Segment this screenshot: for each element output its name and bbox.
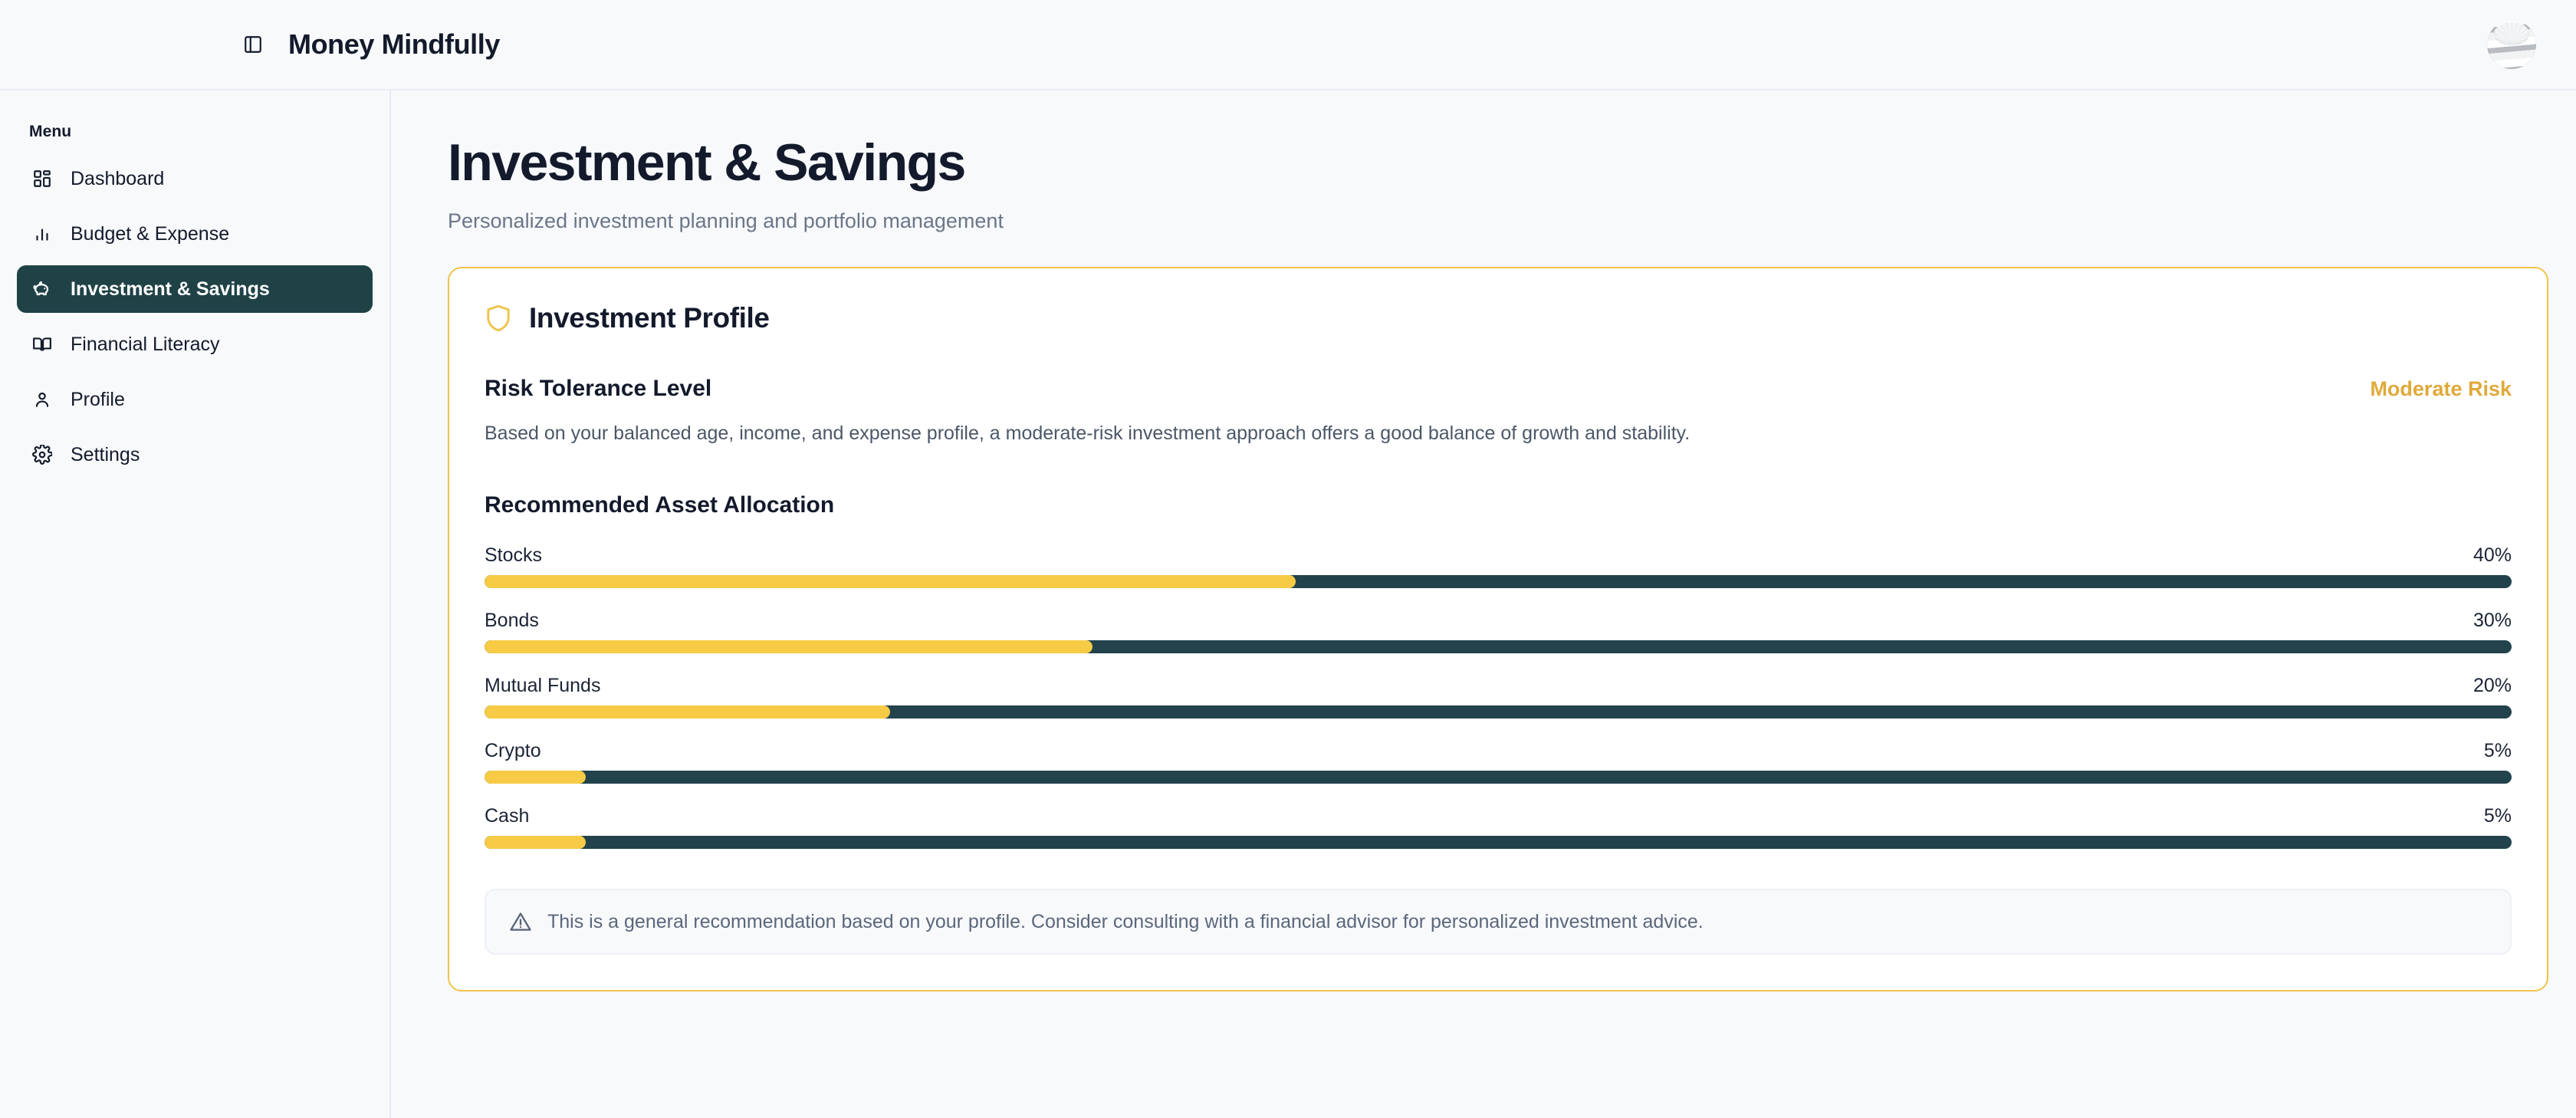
book-open-icon	[31, 333, 54, 356]
allocation-progress-fill	[485, 771, 586, 784]
body-split: Menu Dashboard	[0, 90, 2576, 1118]
page-title: Investment & Savings	[448, 136, 2522, 189]
sidebar-item-label: Budget & Expense	[71, 223, 229, 245]
app-title: Money Mindfully	[288, 28, 500, 61]
allocation-row-header: Bonds 30%	[485, 610, 2512, 632]
allocation-percent: 5%	[2484, 740, 2512, 762]
allocation-row: Stocks 40%	[485, 544, 2512, 588]
top-bar-left: Money Mindfully	[0, 28, 500, 61]
card-header: Investment Profile	[485, 302, 2512, 334]
shield-icon	[485, 304, 512, 333]
disclaimer-note: This is a general recommendation based o…	[485, 889, 2512, 955]
risk-tolerance-row: Risk Tolerance Level Moderate Risk	[485, 376, 2512, 402]
allocation-row: Cash 5%	[485, 805, 2512, 849]
app-root: Money Mindfully Menu	[0, 0, 2576, 1118]
allocation-percent: 20%	[2473, 675, 2512, 697]
sidebar-item-label: Dashboard	[71, 168, 164, 190]
allocation-name: Stocks	[485, 544, 542, 567]
allocation-progress-track	[485, 575, 2512, 588]
allocation-name: Crypto	[485, 740, 541, 762]
allocation-progress-fill	[485, 836, 586, 849]
sidebar-item-label: Profile	[71, 389, 125, 411]
allocation-name: Bonds	[485, 610, 539, 632]
gear-icon	[31, 443, 54, 466]
allocation-progress-track	[485, 640, 2512, 653]
allocation-row-header: Cash 5%	[485, 805, 2512, 827]
allocation-name: Cash	[485, 805, 529, 827]
allocation-progress-track	[485, 836, 2512, 849]
page-subtitle: Personalized investment planning and por…	[448, 209, 2522, 233]
allocation-progress-fill	[485, 575, 1296, 588]
bar-chart-icon	[31, 222, 54, 245]
allocation-row-header: Stocks 40%	[485, 544, 2512, 567]
allocation-row: Mutual Funds 20%	[485, 675, 2512, 718]
risk-tolerance-description: Based on your balanced age, income, and …	[485, 423, 2512, 445]
grid-icon	[31, 167, 54, 190]
allocation-percent: 5%	[2484, 805, 2512, 827]
sidebar-item-settings[interactable]: Settings	[17, 431, 373, 478]
sidebar: Menu Dashboard	[0, 90, 391, 1118]
allocation-row: Crypto 5%	[485, 740, 2512, 784]
allocation-progress-fill	[485, 705, 890, 718]
sidebar-item-label: Financial Literacy	[71, 334, 220, 356]
allocation-percent: 30%	[2473, 610, 2512, 632]
panel-toggle-icon[interactable]	[238, 29, 268, 60]
card-title: Investment Profile	[529, 302, 770, 334]
risk-tolerance-label: Risk Tolerance Level	[485, 376, 711, 402]
allocation-row: Bonds 30%	[485, 610, 2512, 653]
asset-allocation-list: Stocks 40% Bonds 30%	[485, 544, 2512, 849]
top-bar-right	[2487, 20, 2536, 69]
sidebar-item-financial-literacy[interactable]: Financial Literacy	[17, 321, 373, 368]
sidebar-nav-list: Dashboard Budget & Expense	[17, 155, 373, 478]
user-icon	[31, 388, 54, 411]
piggy-bank-icon	[31, 278, 54, 301]
allocation-row-header: Crypto 5%	[485, 740, 2512, 762]
allocation-name: Mutual Funds	[485, 675, 600, 697]
allocation-progress-track	[485, 705, 2512, 718]
allocation-progress-fill	[485, 640, 1092, 653]
disclaimer-text: This is a general recommendation based o…	[547, 911, 1704, 933]
top-bar: Money Mindfully	[0, 0, 2576, 90]
warning-triangle-icon	[509, 910, 532, 933]
main-content: Investment & Savings Personalized invest…	[391, 90, 2576, 1118]
allocation-row-header: Mutual Funds 20%	[485, 675, 2512, 697]
asset-allocation-title: Recommended Asset Allocation	[485, 492, 2512, 518]
sidebar-item-budget-expense[interactable]: Budget & Expense	[17, 210, 373, 258]
sidebar-item-investment-savings[interactable]: Investment & Savings	[17, 265, 373, 313]
allocation-percent: 40%	[2473, 544, 2512, 567]
sidebar-section-label: Menu	[17, 112, 373, 155]
sidebar-item-label: Settings	[71, 444, 140, 466]
allocation-progress-track	[485, 771, 2512, 784]
sidebar-item-label: Investment & Savings	[71, 278, 270, 301]
sidebar-item-profile[interactable]: Profile	[17, 376, 373, 423]
investment-profile-card: Investment Profile Risk Tolerance Level …	[448, 267, 2548, 991]
avatar[interactable]	[2487, 20, 2536, 69]
sidebar-item-dashboard[interactable]: Dashboard	[17, 155, 373, 202]
status-badge: Moderate Risk	[2370, 377, 2512, 401]
